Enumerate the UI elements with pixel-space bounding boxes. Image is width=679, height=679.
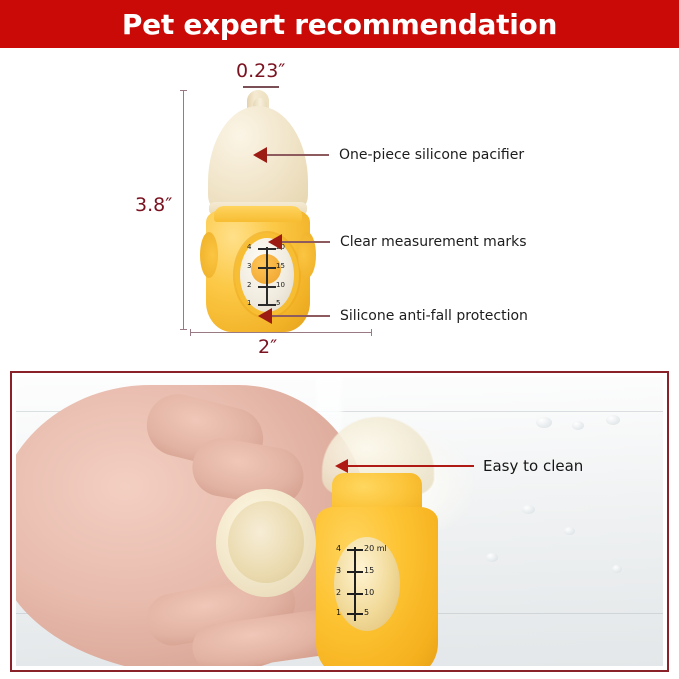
callout-label: Easy to clean bbox=[483, 457, 583, 475]
nipple-width-label: 0.23″ bbox=[236, 60, 285, 82]
scale-label-left: 3 bbox=[247, 263, 251, 270]
photo-scale-label-right: 5 bbox=[364, 609, 369, 617]
scale-axis bbox=[266, 247, 268, 305]
dimension-cap-top bbox=[180, 90, 187, 91]
photo-scale-axis bbox=[354, 547, 356, 621]
leader-line bbox=[267, 154, 329, 156]
cap-interior bbox=[228, 501, 304, 583]
header-banner: Pet expert recommendation bbox=[0, 0, 679, 48]
leader-line bbox=[348, 465, 474, 467]
callout-label: Silicone anti-fall protection bbox=[340, 308, 528, 324]
callout-measurement: Clear measurement marks bbox=[268, 234, 527, 250]
photo-bottle-body: 4 3 2 1 20 ml 15 10 5 bbox=[316, 507, 438, 666]
photo-scale-tick bbox=[347, 571, 363, 573]
infographic-page: Pet expert recommendation 0.23″ 3.8″ 2″ bbox=[0, 0, 679, 679]
photo-scale-label-left: 4 bbox=[336, 545, 341, 553]
photo-scale-label-left: 2 bbox=[336, 589, 341, 597]
photo-scale-tick bbox=[347, 613, 363, 615]
water-droplet bbox=[612, 565, 622, 573]
body-width-dimension-line bbox=[190, 332, 372, 333]
dimension-cap-bottom bbox=[180, 329, 187, 330]
photo-scale-tick bbox=[347, 549, 363, 551]
page-title: Pet expert recommendation bbox=[122, 8, 557, 41]
callout-antifall: Silicone anti-fall protection bbox=[258, 308, 528, 324]
body-width-label: 2″ bbox=[258, 336, 277, 358]
photo-scale-label-left: 1 bbox=[336, 609, 341, 617]
water-droplet bbox=[522, 505, 535, 514]
bottle-shoulder bbox=[214, 206, 302, 222]
arrow-left-icon bbox=[335, 459, 348, 473]
water-droplet bbox=[606, 415, 620, 425]
water-droplet bbox=[564, 527, 575, 535]
arrow-left-icon bbox=[268, 234, 282, 250]
bottle-illustration: 4 3 2 1 20 15 10 5 bbox=[196, 90, 320, 332]
callout-label: One-piece silicone pacifier bbox=[339, 147, 524, 163]
photo-frame: 4 3 2 1 20 ml 15 10 5 Easy to clean bbox=[10, 371, 669, 672]
scale-tick bbox=[258, 267, 276, 269]
water-droplet bbox=[486, 553, 498, 562]
product-diagram-panel: 0.23″ 3.8″ 2″ 4 3 2 bbox=[0, 48, 679, 363]
arrow-left-icon bbox=[253, 147, 267, 163]
scale-label-left: 1 bbox=[247, 300, 251, 307]
scale-label-right: 15 bbox=[276, 263, 285, 270]
silicone-cap bbox=[216, 489, 316, 597]
leader-line bbox=[282, 241, 330, 243]
photo-scale-tick bbox=[347, 593, 363, 595]
dimension-cap-left bbox=[190, 329, 191, 336]
photo-scale-label-right: 20 ml bbox=[364, 545, 387, 553]
scale-label-left: 2 bbox=[247, 282, 251, 289]
scale-tick bbox=[258, 286, 276, 288]
water-droplet bbox=[572, 421, 584, 430]
arrow-left-icon bbox=[258, 308, 272, 324]
dimension-cap-right bbox=[371, 329, 372, 336]
leader-line bbox=[272, 315, 330, 317]
scale-label-right: 10 bbox=[276, 282, 285, 289]
callout-pacifier: One-piece silicone pacifier bbox=[253, 147, 524, 163]
scale-label-left: 4 bbox=[247, 244, 251, 251]
height-dimension-line bbox=[183, 90, 184, 330]
callout-easy-to-clean: Easy to clean bbox=[335, 457, 583, 475]
water-droplet bbox=[536, 417, 552, 428]
product-photo: 4 3 2 1 20 ml 15 10 5 Easy to clean bbox=[16, 377, 663, 666]
photo-scale-label-right: 10 bbox=[364, 589, 374, 597]
photo-measurement-window: 4 3 2 1 20 ml 15 10 5 bbox=[334, 537, 400, 631]
scale-label-right: 5 bbox=[276, 300, 280, 307]
photo-scale-label-right: 15 bbox=[364, 567, 374, 575]
scale-tick bbox=[258, 304, 276, 306]
total-height-label: 3.8″ bbox=[135, 194, 172, 216]
photo-scale-label-left: 3 bbox=[336, 567, 341, 575]
nipple-width-dimension-line bbox=[243, 86, 279, 88]
callout-label: Clear measurement marks bbox=[340, 234, 527, 250]
